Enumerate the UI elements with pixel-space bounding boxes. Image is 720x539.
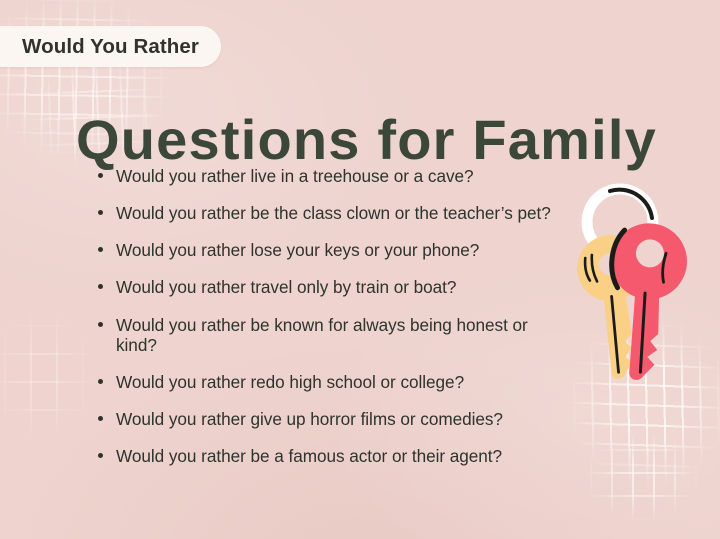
keys-illustration (558, 176, 718, 401)
list-item-label: Would you rather live in a treehouse or … (116, 166, 474, 186)
bullet-icon (98, 284, 103, 289)
slide-canvas: Would You Rather Questions for Family Wo… (0, 0, 720, 539)
list-item: Would you rather give up horror films or… (96, 409, 566, 429)
crosshatch-bottom-right-inner (582, 434, 702, 529)
eyebrow-badge-label: Would You Rather (22, 35, 199, 59)
bullet-icon (98, 247, 103, 252)
list-item: Would you rather be known for always bei… (96, 315, 566, 355)
list-item-label: Would you rather lose your keys or your … (116, 240, 479, 260)
list-item-label: Would you rather be a famous actor or th… (116, 446, 502, 466)
list-item-label: Would you rather be the class clown or t… (116, 203, 551, 223)
bullet-icon (98, 379, 103, 384)
list-item: Would you rather be the class clown or t… (96, 203, 566, 223)
list-item-label: Would you rather be known for always bei… (116, 315, 528, 355)
list-item-label: Would you rather travel only by train or… (116, 277, 456, 297)
list-item: Would you rather travel only by train or… (96, 277, 566, 297)
question-list: Would you rather live in a treehouse or … (96, 166, 566, 466)
list-item: Would you rather lose your keys or your … (96, 240, 566, 260)
bullet-icon (98, 453, 103, 458)
list-item: Would you rather redo high school or col… (96, 372, 566, 392)
eyebrow-badge: Would You Rather (0, 26, 221, 67)
list-item-label: Would you rather redo high school or col… (116, 372, 464, 392)
page-title: Questions for Family (76, 112, 657, 168)
bullet-icon (98, 210, 103, 215)
list-item: Would you rather be a famous actor or th… (96, 446, 566, 466)
list-item: Would you rather live in a treehouse or … (96, 166, 566, 186)
bullet-icon (98, 173, 103, 178)
list-item-label: Would you rather give up horror films or… (116, 409, 503, 429)
bullet-icon (98, 416, 103, 421)
bullet-icon (98, 322, 103, 327)
